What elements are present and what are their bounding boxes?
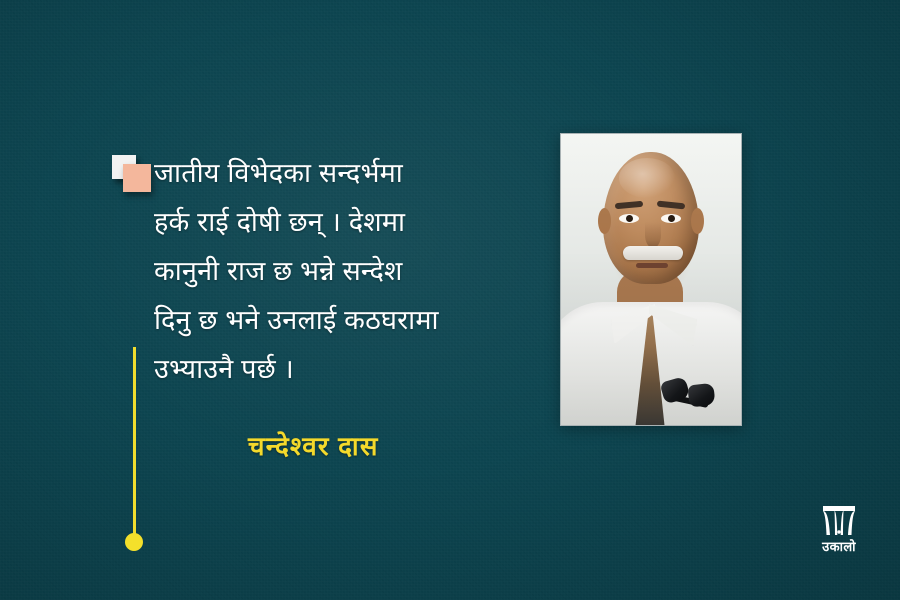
portrait-color-grade xyxy=(561,134,741,425)
quote-line-5: उभ्याउनै पर्छ । xyxy=(154,345,554,394)
quote-line-1: जातीय विभेदका सन्दर्भमा xyxy=(154,149,554,198)
quote-line-2: हर्क राई दोषी छन् । देशमा xyxy=(154,198,554,247)
attribution-name: चन्देश्वर दास xyxy=(248,427,379,463)
portrait-frame xyxy=(560,133,742,426)
quote-card: जातीय विभेदका सन्दर्भमा हर्क राई दोषी छन… xyxy=(0,0,900,600)
ukalo-uphill-mark-icon xyxy=(820,502,858,538)
quote-line-3: कानुनी राज छ भन्ने सन्देश xyxy=(154,247,554,296)
quote-line-4: दिनु छ भने उनलाई कठघरामा xyxy=(154,296,554,345)
quote-text: जातीय विभेदका सन्दर्भमा हर्क राई दोषी छन… xyxy=(154,149,554,394)
brand-logo[interactable]: उकालो xyxy=(810,502,868,558)
portrait-photo xyxy=(561,134,741,425)
rail-end-dot-icon xyxy=(125,533,143,551)
vertical-rail-icon xyxy=(133,347,136,547)
brand-logo-text: उकालो xyxy=(810,539,868,554)
quote-squares-icon xyxy=(112,155,156,195)
quote-square-front xyxy=(123,164,151,192)
